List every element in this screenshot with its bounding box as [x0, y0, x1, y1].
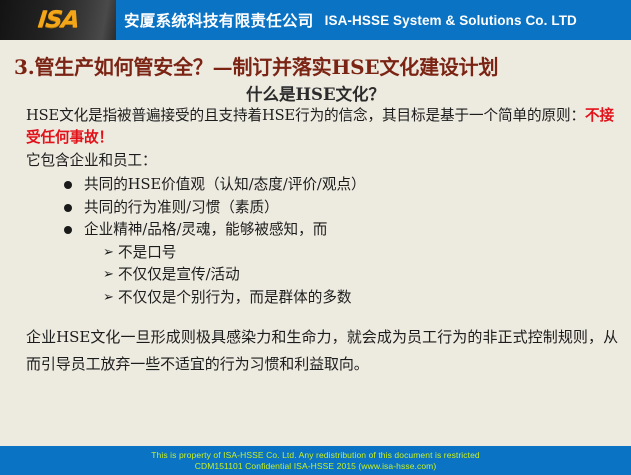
sub-list-item: ➢ 不是口号: [104, 242, 622, 265]
isa-logo-icon: ISA: [36, 7, 79, 33]
list-item: 共同的行为准则/习惯（素质）: [64, 197, 622, 220]
slide-body-block: HSE文化是指被普遍接受的且支持着HSE行为的信念，其目标是基于一个简单的原则：…: [26, 105, 622, 309]
presentation-slide: ISA 安厦系统科技有限责任公司 ISA-HSSE System & Solut…: [0, 0, 631, 475]
sub-list-item: ➢ 不仅仅是个别行为，而是群体的多数: [104, 287, 622, 310]
intro-text: HSE文化是指被普遍接受的且支持着HSE行为的信念，其目标是基于一个简单的原则：: [26, 107, 585, 124]
list-item: 企业精神/品格/灵魂，能够被感知，而 ➢ 不是口号 ➢ 不仅仅是宣传/活动 ➢: [64, 219, 622, 309]
company-name-english: ISA-HSSE System & Solutions Co. LTD: [325, 13, 577, 28]
arrow-bullet-icon: ➢: [103, 287, 114, 310]
arrow-bullet-icon: ➢: [103, 264, 114, 287]
disc-bullet-icon: [64, 181, 72, 189]
footer-copyright-line: This is property of ISA-HSSE Co. Ltd. An…: [151, 450, 480, 460]
sub-list-item-label: 不是口号: [118, 244, 176, 261]
sub-list-item: ➢ 不仅仅是宣传/活动: [104, 264, 622, 287]
header-title-group: 安厦系统科技有限责任公司 ISA-HSSE System & Solutions…: [124, 0, 577, 40]
footer-confidential-line: CDM151101 Confidential ISA-HSSE 2015 (ww…: [195, 461, 437, 471]
list-item-label: 企业精神/品格/灵魂，能够被感知，而: [84, 221, 327, 238]
slide-header-band: ISA 安厦系统科技有限责任公司 ISA-HSSE System & Solut…: [0, 0, 631, 40]
page-title: 3.管生产如何管安全？—制订并落实HSE文化建设计划: [14, 51, 618, 80]
list-item: 共同的HSE价值观（认知/态度/评价/观点）: [64, 174, 622, 197]
bullet-list: 共同的HSE价值观（认知/态度/评价/观点） 共同的行为准则/习惯（素质） 企业…: [26, 174, 622, 309]
closing-paragraph: 企业HSE文化一旦形成则极具感染力和生命力，就会成为员工行为的非正式控制规则，从…: [26, 324, 618, 378]
slide-footer-band: This is property of ISA-HSSE Co. Ltd. An…: [0, 446, 631, 475]
disc-bullet-icon: [64, 226, 72, 234]
sub-list-item-label: 不仅仅是宣传/活动: [118, 266, 240, 283]
isa-logo-panel: ISA: [0, 0, 116, 40]
company-name-chinese: 安厦系统科技有限责任公司: [124, 9, 314, 31]
lead-in-text: 它包含企业和员工：: [26, 150, 622, 172]
sub-bullet-list: ➢ 不是口号 ➢ 不仅仅是宣传/活动 ➢ 不仅仅是个别行为，而是群体的多数: [84, 242, 622, 310]
page-subtitle: 什么是HSE文化？: [0, 81, 631, 105]
list-item-label: 共同的HSE价值观（认知/态度/评价/观点）: [84, 176, 366, 193]
intro-paragraph: HSE文化是指被普遍接受的且支持着HSE行为的信念，其目标是基于一个简单的原则：…: [26, 105, 622, 149]
disc-bullet-icon: [64, 204, 72, 212]
slide-content-area: 3.管生产如何管安全？—制订并落实HSE文化建设计划 什么是HSE文化？ HSE…: [0, 40, 631, 446]
list-item-label: 共同的行为准则/习惯（素质）: [84, 199, 279, 216]
sub-list-item-label: 不仅仅是个别行为，而是群体的多数: [118, 289, 352, 306]
arrow-bullet-icon: ➢: [103, 242, 114, 265]
